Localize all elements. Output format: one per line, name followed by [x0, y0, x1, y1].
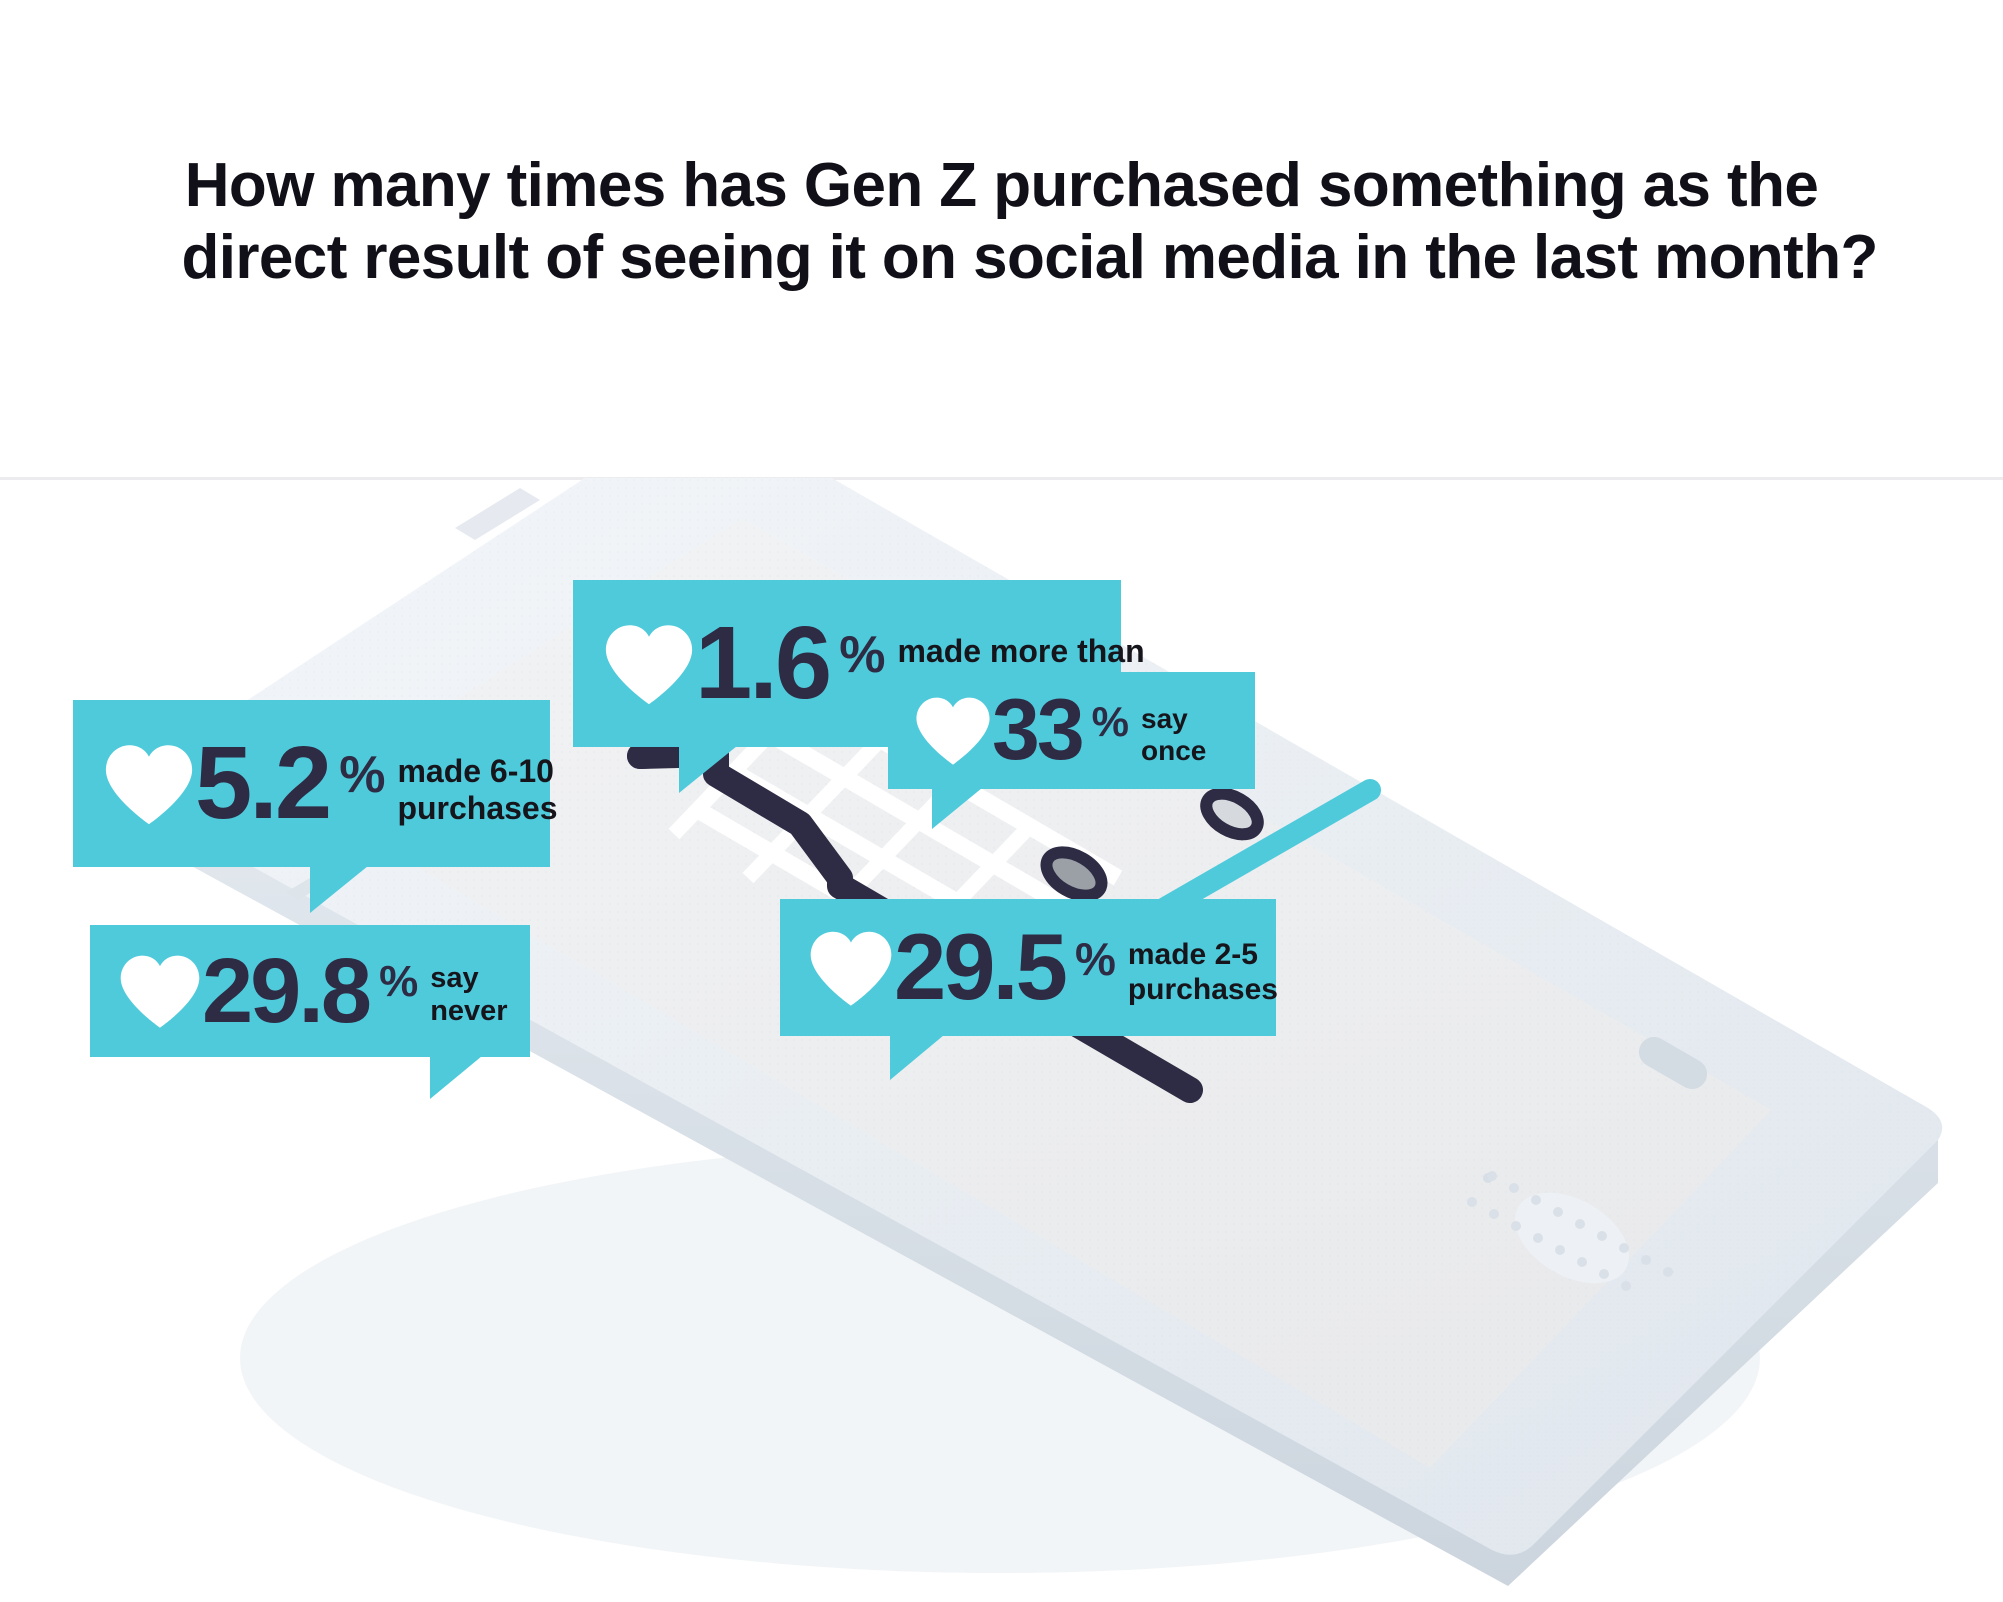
callout-value: 29.5 [894, 925, 1065, 1010]
callout-say-once[interactable]: 33 % say once [888, 672, 1255, 789]
page-title-line-2: direct result of seeing it on social med… [182, 222, 1822, 294]
callout-percent-block: % say once [1092, 695, 1207, 767]
callout-label-line-1: say [1141, 703, 1206, 735]
callout-percent-sign: % [379, 960, 418, 1004]
callout-tail [932, 788, 982, 829]
heart-icon [808, 929, 894, 1007]
callout-tail [430, 1056, 482, 1099]
callout-label: made 6-10 purchases [397, 753, 557, 826]
page-title: How many times has Gen Z purchased somet… [182, 150, 1822, 294]
callout-value: 29.8 [202, 950, 369, 1033]
callout-value: 33 [992, 692, 1082, 769]
callout-percent-sign: % [1075, 936, 1116, 982]
callout-made-2-5-purchases[interactable]: 29.5 % made 2-5 purchases [780, 899, 1276, 1036]
callout-value: 1.6 [695, 617, 829, 710]
callout-percent-sign: % [339, 749, 385, 801]
callout-label-line-2: purchases [397, 790, 557, 826]
callout-percent-sign: % [1092, 701, 1129, 743]
callout-tail [890, 1035, 944, 1080]
callout-label-line-2: once [1141, 735, 1206, 767]
heart-icon [914, 695, 992, 766]
callout-tail [310, 866, 368, 913]
callout-label-line-2: never [430, 995, 507, 1028]
callout-percent-block: % say never [379, 954, 508, 1028]
callout-tail [679, 746, 737, 793]
callout-percent-sign: % [839, 629, 885, 681]
callout-made-6-10-purchases[interactable]: 5.2 % made 6-10 purchases [73, 700, 550, 867]
callout-label-line-2: purchases [1128, 973, 1278, 1007]
callout-percent-block: % made 6-10 purchases [339, 741, 557, 826]
callout-label-line-1: say [430, 962, 507, 995]
callout-label-line-1: made more than [897, 633, 1144, 669]
header: How many times has Gen Z purchased somet… [0, 0, 2003, 478]
heart-icon [603, 622, 695, 706]
infographic-canvas: How many times has Gen Z purchased somet… [0, 0, 2003, 1602]
callout-value: 5.2 [195, 737, 329, 830]
heart-icon [103, 742, 195, 826]
callout-label: say never [430, 962, 507, 1028]
heart-icon [118, 953, 202, 1029]
callout-percent-block: % made 2-5 purchases [1075, 928, 1278, 1006]
callout-label: made 2-5 purchases [1128, 938, 1278, 1006]
callout-label-line-1: made 6-10 [397, 753, 557, 789]
callout-say-never[interactable]: 29.8 % say never [90, 925, 530, 1057]
page-title-line-1: How many times has Gen Z purchased somet… [182, 150, 1822, 222]
callout-label-line-1: made 2-5 [1128, 938, 1278, 972]
callout-label: say once [1141, 703, 1206, 767]
